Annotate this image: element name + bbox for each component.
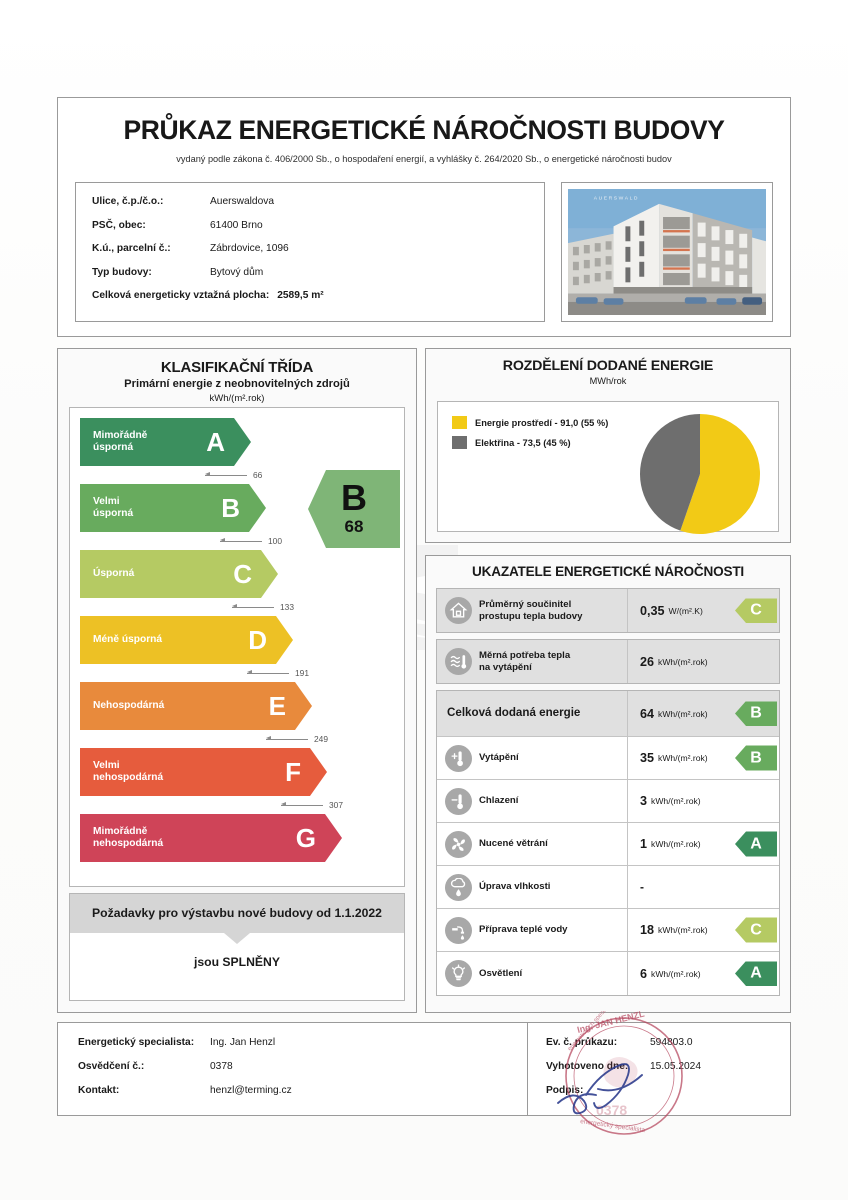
indicator-label-osv-tlen: Osvětlení [479, 968, 627, 980]
energy-split-header: ROZDĚLENÍ DODANÉ ENERGIE MWh/rok [426, 349, 790, 386]
legend-label-environment: Energie prostředí - 91,0 (55 %) [475, 418, 608, 428]
class-band-label-g: Mimořádně nehospodárná [80, 826, 163, 851]
indicator-label-pr-m-rn-sou-initel-prostupu-tepla-budovy: Průměrný součinitel prostupu tepla budov… [479, 599, 627, 623]
indicator-label-prava-vlhkosti: Úprava vlhkosti [479, 881, 627, 893]
id-row-cadastre: K.ú., parcelní č.: Zábrdovice, 1096 [92, 243, 528, 254]
heat-wave-icon [437, 648, 479, 675]
result-class-badge: B 68 [308, 470, 400, 548]
indicator-value-cell-nucen-v-tr-n: 1kWh/(m².rok)A [627, 823, 779, 865]
indicator-unit-p-prava-tepl-vody: kWh/(m².rok) [658, 925, 708, 935]
indicators-list: Průměrný součinitel prostupu tepla budov… [436, 588, 780, 1004]
header-panel: PRŮKAZ ENERGETICKÉ NÁROČNOSTI BUDOVY vyd… [57, 97, 791, 337]
class-band-letter-b: B [221, 493, 266, 524]
class-band-letter-e: E [269, 691, 312, 722]
footer-row-signature: Podpis: [546, 1085, 790, 1096]
footer-value-issued-date: 15.05.2024 [650, 1061, 701, 1072]
indicator-value-cell-chlazen: 3kWh/(m².rok) [627, 780, 779, 822]
indicator-row-prava-vlhkosti: Úprava vlhkosti- [437, 866, 779, 909]
thermometer-minus-icon [437, 788, 479, 815]
class-band-e: NehospodárnáE [80, 682, 312, 730]
energy-split-heading: ROZDĚLENÍ DODANÉ ENERGIE [426, 358, 790, 374]
class-threshold-133: 133 [232, 601, 294, 613]
footer-row-contact: Kontakt: henzl@terming.cz [78, 1085, 527, 1096]
footer-label-certificate-no: Osvědčení č.: [78, 1061, 210, 1072]
svg-text:Ing. JAN HENZL: Ing. JAN HENZL [576, 1011, 646, 1035]
indicator-label-p-prava-tepl-vody: Příprava teplé vody [479, 924, 627, 936]
footer-left: Energetický specialista: Ing. Jan Henzl … [58, 1023, 528, 1115]
faucet-icon [437, 917, 479, 944]
classification-heading: KLASIFIKAČNÍ TŘÍDA [58, 359, 416, 376]
footer-row-certificate-no: Osvědčení č.: 0378 [78, 1061, 527, 1072]
indicator-value-cell-p-prava-tepl-vody: 18kWh/(m².rok)C [627, 909, 779, 951]
indicator-value-cell-prava-vlhkosti: - [627, 866, 779, 908]
pie-chart [636, 410, 764, 538]
indicator-value-prava-vlhkosti: - [640, 880, 644, 894]
footer-row-issued-date: Vyhotoveno dne: 15.05.2024 [546, 1061, 790, 1072]
indicator-value-cell-vyt-p-n: 35kWh/(m².rok)B [627, 737, 779, 779]
identification-box: Ulice, č.p./č.o.: Auerswaldova PSČ, obec… [75, 182, 545, 322]
indicator-group-0: Průměrný součinitel prostupu tepla budov… [436, 588, 780, 633]
certificate-page: PRŮKAZ ENERGETICKÉ NÁROČNOSTI BUDOVY Pře… [0, 0, 848, 1200]
indicator-unit-chlazen: kWh/(m².rok) [651, 796, 701, 806]
classification-scale: Mimořádně úspornáA66Velmi úspornáB100Úsp… [69, 407, 405, 887]
indicator-unit-osv-tlen: kWh/(m².rok) [651, 969, 701, 979]
house-icon [437, 597, 479, 624]
indicator-label-m-rn-pot-eba-tepla-na-vyt-p-n: Měrná potřeba tepla na vytápění [479, 650, 627, 674]
footer-label-issued-date: Vyhotoveno dne: [546, 1061, 650, 1072]
pie-legend: Energie prostředí - 91,0 (55 %) Elektřin… [452, 416, 608, 456]
class-band-f: Velmi nehospodárnáF [80, 748, 327, 796]
indicator-class-vyt-p-n: B [735, 746, 777, 771]
footer-row-specialist: Energetický specialista: Ing. Jan Henzl [78, 1037, 527, 1048]
footer-label-signature: Podpis: [546, 1085, 650, 1096]
class-band-label-b: Velmi úsporná [80, 496, 133, 521]
id-row-building-type: Typ budovy: Bytový dům [92, 267, 528, 278]
id-value-area: 2589,5 m² [277, 290, 323, 301]
class-threshold-249: 249 [266, 733, 328, 745]
footer-value-record-no: 594803.0 [650, 1037, 693, 1048]
footer-row-record-no: Ev. č. průkazu: 594803.0 [546, 1037, 790, 1048]
indicator-value-osv-tlen: 6 [640, 967, 647, 981]
indicator-class-celkov-dodan-energie: B [735, 701, 777, 726]
indicator-label-nucen-v-tr-n: Nucené větrání [479, 838, 627, 850]
indicator-unit-nucen-v-tr-n: kWh/(m².rok) [651, 839, 701, 849]
class-threshold-191: 191 [247, 667, 309, 679]
legend-item-electricity: Elektřina - 73,5 (45 %) [452, 436, 608, 449]
class-band-label-e: Nehospodárná [80, 700, 164, 712]
class-band-b: Velmi úspornáB [80, 484, 266, 532]
footer-value-specialist: Ing. Jan Henzl [210, 1037, 275, 1048]
id-value-city: 61400 Brno [210, 220, 263, 231]
indicator-class-nucen-v-tr-n: A [735, 832, 777, 857]
indicator-value-cell-celkov-dodan-energie: 64kWh/(m².rok)B [627, 691, 779, 736]
building-photo-frame: AUERSWALD [561, 182, 773, 322]
class-threshold-100: 100 [220, 535, 282, 547]
indicator-class-osv-tlen: A [735, 961, 777, 986]
svg-text:energetický specialista: energetický specialista [580, 1118, 646, 1134]
result-class-letter: B [341, 481, 367, 515]
result-class-value: 68 [345, 517, 364, 537]
svg-text:AUERSWALD: AUERSWALD [594, 195, 639, 201]
humidity-icon [437, 874, 479, 901]
legend-swatch-electricity [452, 436, 467, 449]
classification-header: KLASIFIKAČNÍ TŘÍDA Primární energie z ne… [58, 349, 416, 404]
indicator-value-p-prava-tepl-vody: 18 [640, 923, 654, 937]
classification-unit: kWh/(m².rok) [58, 393, 416, 404]
id-row-city: PSČ, obec: 61400 Brno [92, 220, 528, 231]
indicator-unit-pr-m-rn-sou-initel-prostupu-tepla-budovy: W/(m².K) [669, 606, 703, 616]
legend-swatch-environment [452, 416, 467, 429]
indicator-value-pr-m-rn-sou-initel-prostupu-tepla-budovy: 0,35 [640, 604, 665, 618]
classification-panel: KLASIFIKAČNÍ TŘÍDA Primární energie z ne… [57, 348, 417, 1013]
class-band-label-c: Úsporná [80, 568, 134, 580]
indicator-value-cell-pr-m-rn-sou-initel-prostupu-tepla-budovy: 0,35W/(m².K)C [627, 589, 779, 632]
requirements-box: Požadavky pro výstavbu nové budovy od 1.… [69, 893, 405, 1001]
id-label-street: Ulice, č.p./č.o.: [92, 196, 210, 207]
id-label-area: Celková energeticky vztažná plocha: [92, 290, 269, 301]
indicator-group-1: Měrná potřeba tepla na vytápění26kWh/(m²… [436, 639, 780, 684]
footer-value-contact: henzl@terming.cz [210, 1085, 292, 1096]
indicator-unit-m-rn-pot-eba-tepla-na-vyt-p-n: kWh/(m².rok) [658, 657, 708, 667]
indicator-row-nucen-v-tr-n: Nucené větrání1kWh/(m².rok)A [437, 823, 779, 866]
indicator-label-chlazen: Chlazení [479, 795, 627, 807]
id-label-building-type: Typ budovy: [92, 267, 210, 278]
legend-item-environment: Energie prostředí - 91,0 (55 %) [452, 416, 608, 429]
requirements-heading: Požadavky pro výstavbu nové budovy od 1.… [70, 894, 404, 933]
class-band-c: ÚspornáC [80, 550, 278, 598]
id-label-cadastre: K.ú., parcelní č.: [92, 243, 210, 254]
indicator-value-vyt-p-n: 35 [640, 751, 654, 765]
indicator-class-p-prava-tepl-vody: C [735, 918, 777, 943]
class-band-g: Mimořádně nehospodárnáG [80, 814, 342, 862]
class-threshold-66: 66 [205, 469, 262, 481]
page-title: PRŮKAZ ENERGETICKÉ NÁROČNOSTI BUDOVY [58, 115, 790, 146]
id-row-area: Celková energeticky vztažná plocha: 2589… [92, 290, 528, 301]
class-band-letter-d: D [248, 625, 293, 656]
indicator-class-pr-m-rn-sou-initel-prostupu-tepla-budovy: C [735, 598, 777, 623]
indicator-row-p-prava-tepl-vody: Příprava teplé vody18kWh/(m².rok)C [437, 909, 779, 952]
indicator-row-osv-tlen: Osvětlení6kWh/(m².rok)A [437, 952, 779, 995]
id-row-street: Ulice, č.p./č.o.: Auerswaldova [92, 196, 528, 207]
indicator-row-m-rn-pot-eba-tepla-na-vyt-p-n: Měrná potřeba tepla na vytápění26kWh/(m²… [437, 640, 779, 683]
class-band-letter-f: F [285, 757, 327, 788]
svg-text:0378: 0378 [596, 1102, 627, 1118]
page-subtitle: vydaný podle zákona č. 406/2000 Sb., o h… [58, 154, 790, 164]
footer-value-certificate-no: 0378 [210, 1061, 233, 1072]
indicator-unit-celkov-dodan-energie: kWh/(m².rok) [658, 709, 708, 719]
indicator-value-cell-m-rn-pot-eba-tepla-na-vyt-p-n: 26kWh/(m².rok) [627, 640, 779, 683]
id-label-city: PSČ, obec: [92, 220, 210, 231]
footer-right: Ev. č. průkazu: 594803.0 Vyhotoveno dne:… [528, 1023, 790, 1115]
class-band-label-f: Velmi nehospodárná [80, 760, 163, 785]
fan-icon [437, 831, 479, 858]
indicator-row-pr-m-rn-sou-initel-prostupu-tepla-budovy: Průměrný součinitel prostupu tepla budov… [437, 589, 779, 632]
thermometer-plus-icon [437, 745, 479, 772]
indicators-header: UKAZATELE ENERGETICKÉ NÁROČNOSTI [426, 556, 790, 579]
footer-panel: Energetický specialista: Ing. Jan Henzl … [57, 1022, 791, 1116]
indicator-value-nucen-v-tr-n: 1 [640, 837, 647, 851]
indicators-panel: UKAZATELE ENERGETICKÉ NÁROČNOSTI Průměrn… [425, 555, 791, 1013]
indicator-row-celkov-dodan-energie: Celková dodaná energie64kWh/(m².rok)B [437, 691, 779, 737]
indicator-label-celkov-dodan-energie: Celková dodaná energie [437, 706, 627, 720]
building-photo: AUERSWALD [568, 189, 766, 315]
class-band-letter-c: C [233, 559, 278, 590]
class-band-a: Mimořádně úspornáA [80, 418, 251, 466]
class-band-d: Méně úspornáD [80, 616, 293, 664]
class-threshold-307: 307 [281, 799, 343, 811]
id-value-building-type: Bytový dům [210, 267, 263, 278]
identification-area: Ulice, č.p./č.o.: Auerswaldova PSČ, obec… [75, 182, 773, 322]
class-band-label-a: Mimořádně úsporná [80, 430, 147, 455]
indicators-heading: UKAZATELE ENERGETICKÉ NÁROČNOSTI [426, 564, 790, 579]
indicator-value-m-rn-pot-eba-tepla-na-vyt-p-n: 26 [640, 655, 654, 669]
id-value-cadastre: Zábrdovice, 1096 [210, 243, 289, 254]
indicator-row-chlazen: Chlazení3kWh/(m².rok) [437, 780, 779, 823]
energy-split-panel: ROZDĚLENÍ DODANÉ ENERGIE MWh/rok Energie… [425, 348, 791, 543]
indicator-row-vyt-p-n: Vytápění35kWh/(m².rok)B [437, 737, 779, 780]
class-band-letter-a: A [206, 427, 251, 458]
energy-split-chart-area: Energie prostředí - 91,0 (55 %) Elektřin… [437, 401, 779, 532]
bulb-icon [437, 960, 479, 987]
class-band-label-d: Méně úsporná [80, 634, 162, 646]
indicator-value-celkov-dodan-energie: 64 [640, 707, 654, 721]
energy-split-unit: MWh/rok [426, 376, 790, 386]
indicator-group-main: Celková dodaná energie64kWh/(m².rok)BVyt… [436, 690, 780, 996]
legend-label-electricity: Elektřina - 73,5 (45 %) [475, 438, 571, 448]
indicator-value-chlazen: 3 [640, 794, 647, 808]
indicator-unit-vyt-p-n: kWh/(m².rok) [658, 753, 708, 763]
id-value-street: Auerswaldova [210, 196, 274, 207]
class-band-letter-g: G [296, 823, 342, 854]
footer-label-specialist: Energetický specialista: [78, 1037, 210, 1048]
footer-label-contact: Kontakt: [78, 1085, 210, 1096]
official-stamp: Ing. JAN HENZL energetických specialistů… [540, 1011, 708, 1141]
indicator-value-cell-osv-tlen: 6kWh/(m².rok)A [627, 952, 779, 995]
indicator-label-vyt-p-n: Vytápění [479, 752, 627, 764]
classification-subheading: Primární energie z neobnovitelných zdroj… [58, 378, 416, 390]
footer-label-record-no: Ev. č. průkazu: [546, 1037, 650, 1048]
